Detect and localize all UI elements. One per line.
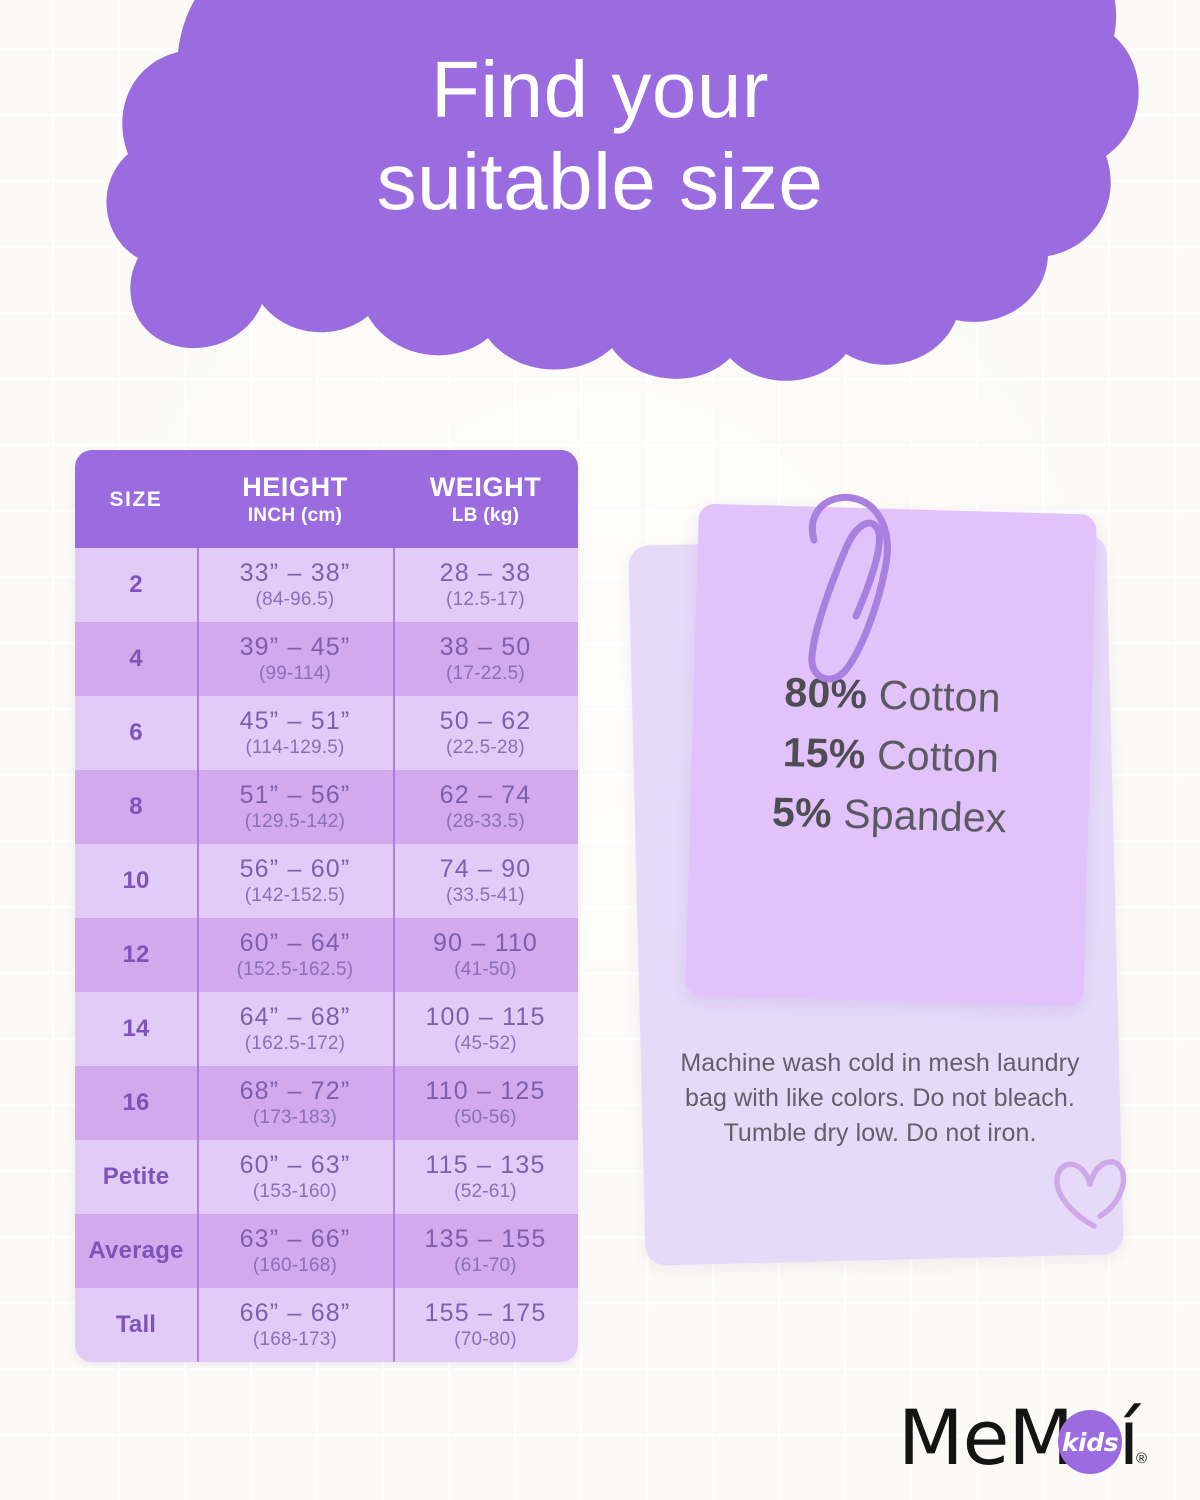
- height-centimeters: (168-173): [253, 1328, 337, 1351]
- cell-size: 2: [75, 548, 197, 622]
- size-value: 4: [129, 645, 143, 673]
- table-row: Tall66” – 68”(168-173)155 – 175(70-80): [75, 1288, 578, 1362]
- table-row: 851” – 56”(129.5-142)62 – 74(28-33.5): [75, 770, 578, 844]
- heart-doodle-icon: [1050, 1150, 1130, 1236]
- height-centimeters: (84-96.5): [256, 588, 335, 611]
- cell-weight: 28 – 38(12.5-17): [393, 548, 578, 622]
- registered-trademark-symbol: ®: [1136, 1450, 1147, 1467]
- weight-kilograms: (12.5-17): [446, 588, 525, 611]
- size-value: Average: [88, 1237, 183, 1265]
- size-value: 8: [129, 793, 143, 821]
- cell-height: 56” – 60”(142-152.5): [197, 844, 393, 918]
- height-inches: 60” – 63”: [240, 1151, 351, 1179]
- size-value: 10: [122, 867, 149, 895]
- table-header-row: SIZE HEIGHT INCH (cm) WEIGHT LB (kg): [75, 450, 578, 548]
- weight-kilograms: (22.5-28): [446, 736, 525, 759]
- size-value: 16: [122, 1089, 149, 1117]
- cell-weight: 100 – 115(45-52): [393, 992, 578, 1066]
- logo-kids-label: kids: [1062, 1428, 1118, 1457]
- column-header-height: HEIGHT INCH (cm): [197, 450, 393, 548]
- weight-pounds: 100 – 115: [425, 1003, 545, 1031]
- weight-pounds: 90 – 110: [433, 929, 538, 957]
- weight-kilograms: (61-70): [454, 1254, 517, 1277]
- size-chart-table: SIZE HEIGHT INCH (cm) WEIGHT LB (kg) 233…: [75, 450, 578, 1362]
- weight-pounds: 50 – 62: [440, 707, 532, 735]
- table-row: 1668” – 72”(173-183)110 – 125(50-56): [75, 1066, 578, 1140]
- title-line-1: Find your: [0, 44, 1200, 136]
- table-row: 645” – 51”(114-129.5)50 – 62(22.5-28): [75, 696, 578, 770]
- weight-kilograms: (33.5-41): [446, 884, 525, 907]
- page-title: Find your suitable size: [0, 44, 1200, 228]
- table-row: 1464” – 68”(162.5-172)100 – 115(45-52): [75, 992, 578, 1066]
- paperclip-icon: [800, 488, 920, 688]
- weight-pounds: 135 – 155: [424, 1225, 546, 1253]
- cell-height: 51” – 56”(129.5-142): [197, 770, 393, 844]
- weight-kilograms: (41-50): [454, 958, 517, 981]
- weight-kilograms: (52-61): [454, 1180, 517, 1203]
- weight-kilograms: (28-33.5): [446, 810, 525, 833]
- table-row: 1260” – 64”(152.5-162.5)90 – 110(41-50): [75, 918, 578, 992]
- weight-pounds: 74 – 90: [440, 855, 532, 883]
- cell-height: 39” – 45”(99-114): [197, 622, 393, 696]
- weight-kilograms: (17-22.5): [446, 662, 525, 685]
- cell-height: 63” – 66”(160-168): [197, 1214, 393, 1288]
- height-centimeters: (114-129.5): [245, 736, 344, 759]
- weight-pounds: 28 – 38: [440, 559, 532, 587]
- height-centimeters: (99-114): [259, 662, 331, 685]
- column-header-size: SIZE: [75, 450, 197, 548]
- height-centimeters: (142-152.5): [245, 884, 345, 907]
- cell-height: 66” – 68”(168-173): [197, 1288, 393, 1362]
- height-centimeters: (162.5-172): [245, 1032, 345, 1055]
- table-row: 439” – 45”(99-114)38 – 50(17-22.5): [75, 622, 578, 696]
- cell-size: 8: [75, 770, 197, 844]
- cell-weight: 90 – 110(41-50): [393, 918, 578, 992]
- cell-size: 12: [75, 918, 197, 992]
- cell-size: 16: [75, 1066, 197, 1140]
- cell-height: 68” – 72”(173-183): [197, 1066, 393, 1140]
- weight-pounds: 38 – 50: [440, 633, 532, 661]
- size-value: 12: [122, 941, 149, 969]
- height-inches: 68” – 72”: [240, 1077, 351, 1105]
- logo-kids-badge: kids: [1058, 1410, 1122, 1474]
- table-row: Average63” – 66”(160-168)135 – 155(61-70…: [75, 1214, 578, 1288]
- composition-material: Cotton: [876, 732, 999, 781]
- cell-size: Petite: [75, 1140, 197, 1214]
- table-body: 233” – 38”(84-96.5)28 – 38(12.5-17)439” …: [75, 548, 578, 1362]
- height-inches: 60” – 64”: [240, 929, 351, 957]
- cell-weight: 38 – 50(17-22.5): [393, 622, 578, 696]
- weight-pounds: 155 – 175: [424, 1299, 546, 1327]
- weight-kilograms: (45-52): [454, 1032, 517, 1055]
- height-centimeters: (153-160): [253, 1180, 337, 1203]
- height-centimeters: (160-168): [253, 1254, 337, 1277]
- height-centimeters: (129.5-142): [245, 810, 345, 833]
- size-value: 14: [122, 1015, 149, 1043]
- cell-height: 64” – 68”(162.5-172): [197, 992, 393, 1066]
- cell-size: 10: [75, 844, 197, 918]
- cell-height: 45” – 51”(114-129.5): [197, 696, 393, 770]
- cell-height: 60” – 63”(153-160): [197, 1140, 393, 1214]
- height-centimeters: (152.5-162.5): [237, 958, 354, 981]
- height-inches: 45” – 51”: [240, 707, 351, 735]
- cell-size: 14: [75, 992, 197, 1066]
- size-value: Petite: [103, 1163, 170, 1191]
- cell-weight: 62 – 74(28-33.5): [393, 770, 578, 844]
- composition-percent: 5%: [771, 789, 832, 837]
- care-instructions: Machine wash cold in mesh laundry bag wi…: [660, 1046, 1100, 1151]
- height-inches: 64” – 68”: [240, 1003, 351, 1031]
- height-inches: 56” – 60”: [240, 855, 351, 883]
- cell-size: 4: [75, 622, 197, 696]
- height-inches: 39” – 45”: [240, 633, 351, 661]
- cell-weight: 74 – 90(33.5-41): [393, 844, 578, 918]
- weight-pounds: 110 – 125: [425, 1077, 545, 1105]
- weight-kilograms: (70-80): [454, 1328, 517, 1351]
- cell-size: Average: [75, 1214, 197, 1288]
- column-header-weight: WEIGHT LB (kg): [393, 450, 578, 548]
- cell-weight: 110 – 125(50-56): [393, 1066, 578, 1140]
- weight-kilograms: (50-56): [454, 1106, 517, 1129]
- size-value: 6: [129, 719, 143, 747]
- composition-item: 15% Cotton: [782, 722, 1000, 788]
- size-value: 2: [129, 571, 143, 599]
- table-row: 1056” – 60”(142-152.5)74 – 90(33.5-41): [75, 844, 578, 918]
- cell-weight: 50 – 62(22.5-28): [393, 696, 578, 770]
- composition-percent: 15%: [782, 729, 866, 777]
- size-value: Tall: [116, 1311, 156, 1339]
- composition-item: 5% Spandex: [771, 782, 1007, 849]
- height-inches: 51” – 56”: [240, 781, 351, 809]
- cell-size: Tall: [75, 1288, 197, 1362]
- composition-material: Spandex: [843, 791, 1007, 842]
- cell-weight: 115 – 135(52-61): [393, 1140, 578, 1214]
- cell-size: 6: [75, 696, 197, 770]
- cell-weight: 155 – 175(70-80): [393, 1288, 578, 1362]
- table-row: Petite60” – 63”(153-160)115 – 135(52-61): [75, 1140, 578, 1214]
- weight-pounds: 62 – 74: [440, 781, 532, 809]
- brand-logo: MeMoí kids ®: [898, 1392, 1163, 1484]
- height-inches: 33” – 38”: [240, 559, 351, 587]
- title-line-2: suitable size: [0, 136, 1200, 228]
- height-centimeters: (173-183): [253, 1106, 337, 1129]
- weight-pounds: 115 – 135: [425, 1151, 545, 1179]
- cell-weight: 135 – 155(61-70): [393, 1214, 578, 1288]
- height-inches: 63” – 66”: [240, 1225, 351, 1253]
- cell-height: 33” – 38”(84-96.5): [197, 548, 393, 622]
- height-inches: 66” – 68”: [240, 1299, 351, 1327]
- cell-height: 60” – 64”(152.5-162.5): [197, 918, 393, 992]
- table-row: 233” – 38”(84-96.5)28 – 38(12.5-17): [75, 548, 578, 622]
